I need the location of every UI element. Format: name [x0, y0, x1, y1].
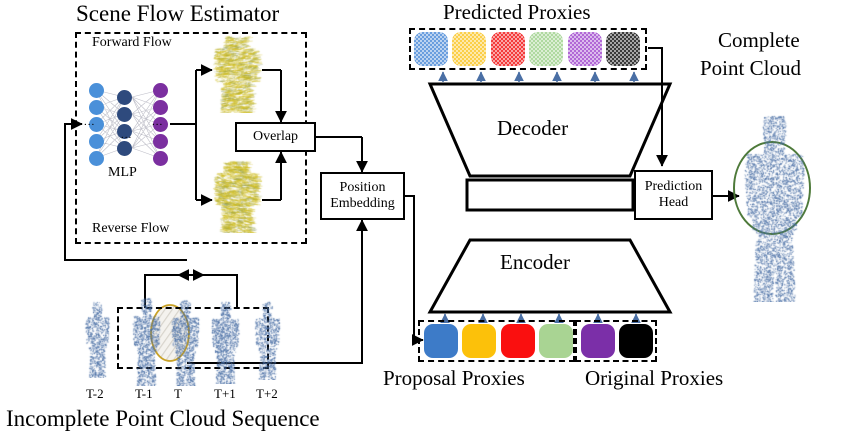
overlap-label: Overlap: [253, 129, 298, 145]
input-layer-node: [89, 151, 104, 166]
sequence-label-1: T-1: [135, 387, 153, 400]
decoder-to-predicted-arrows: [443, 72, 634, 82]
predicted-proxy-2: [452, 32, 486, 66]
predicted-proxy-4: [529, 32, 563, 66]
position-embedding-line1: Position: [340, 180, 386, 196]
forward-flow-visualization: [209, 33, 265, 113]
reverse-flow-label: Reverse Flow: [92, 222, 169, 236]
overlap-box: Overlap: [235, 122, 316, 152]
original-proxies-title: Original Proxies: [585, 368, 723, 389]
predicted-proxy-1: [414, 32, 448, 66]
reverse-flow-visualization: [209, 158, 265, 233]
hidden-layer-node: [117, 107, 132, 122]
scene-flow-estimator-title: Scene Flow Estimator: [76, 2, 279, 25]
original-proxy-2: [619, 324, 653, 358]
mlp-output-ellipsis: ...: [152, 117, 163, 128]
incomplete-sequence-title: Incomplete Point Cloud Sequence: [6, 407, 320, 430]
figure-root: Scene Flow Estimator Forward Flow Revers…: [0, 0, 842, 439]
sequence-frame-Tp1: [203, 300, 247, 384]
output-layer-node: [153, 134, 168, 149]
mlp-input-ellipsis: ...: [84, 117, 95, 128]
mlp-hidden-ellipsis: ...: [121, 130, 132, 141]
output-layer-node: [153, 151, 168, 166]
latent-box: [467, 180, 633, 210]
predicted-proxies-title: Predicted Proxies: [443, 2, 591, 23]
position-embedding-to-proposal: [405, 196, 423, 340]
input-layer-node: [89, 100, 104, 115]
sequence-frame-T: [163, 298, 207, 386]
predicted-proxy-3: [491, 32, 525, 66]
output-layer-node: [153, 83, 168, 98]
decoder-label: Decoder: [497, 118, 568, 139]
output-layer-node: [153, 100, 168, 115]
predicted-to-prediction-head: [648, 48, 662, 166]
proposal-proxy-3: [501, 324, 535, 358]
complete-point-cloud-visualization: [726, 112, 822, 302]
predicted-proxy-6: [606, 32, 640, 66]
prediction-head-line2: Head: [659, 195, 689, 211]
input-layer-node: [89, 134, 104, 149]
original-proxy-1: [581, 324, 615, 358]
position-embedding-line2: Embedding: [330, 196, 395, 212]
proposal-proxy-1: [424, 324, 458, 358]
prediction-head-box: Prediction Head: [634, 170, 713, 220]
proposal-proxy-2: [462, 324, 496, 358]
sequence-label-3: T+1: [214, 387, 236, 400]
sequence-frame-Tp2: [247, 300, 287, 380]
proposal-proxies-title: Proposal Proxies: [383, 368, 525, 389]
sequence-label-4: T+2: [256, 387, 278, 400]
sequence-frame-Tm1: [124, 296, 168, 386]
forward-flow-label: Forward Flow: [92, 36, 172, 50]
overlap-to-position-embedding: [316, 137, 362, 172]
hidden-layer-node: [117, 90, 132, 105]
hidden-layer-node: [117, 141, 132, 156]
predicted-proxy-5: [568, 32, 602, 66]
sequence-frame-Tm2: [78, 300, 116, 378]
sequence-label-2: T: [174, 387, 182, 400]
complete-point-cloud-title-line1: Complete: [718, 30, 800, 51]
position-embedding-box: Position Embedding: [320, 172, 405, 220]
complete-point-cloud-title-line2: Point Cloud: [700, 58, 801, 79]
input-layer-node: [89, 83, 104, 98]
sequence-label-0: T-2: [86, 387, 104, 400]
prediction-head-line1: Prediction: [645, 179, 703, 195]
proposal-proxy-4: [539, 324, 573, 358]
encoder-label: Encoder: [500, 252, 570, 273]
mlp-label: MLP: [108, 166, 137, 180]
